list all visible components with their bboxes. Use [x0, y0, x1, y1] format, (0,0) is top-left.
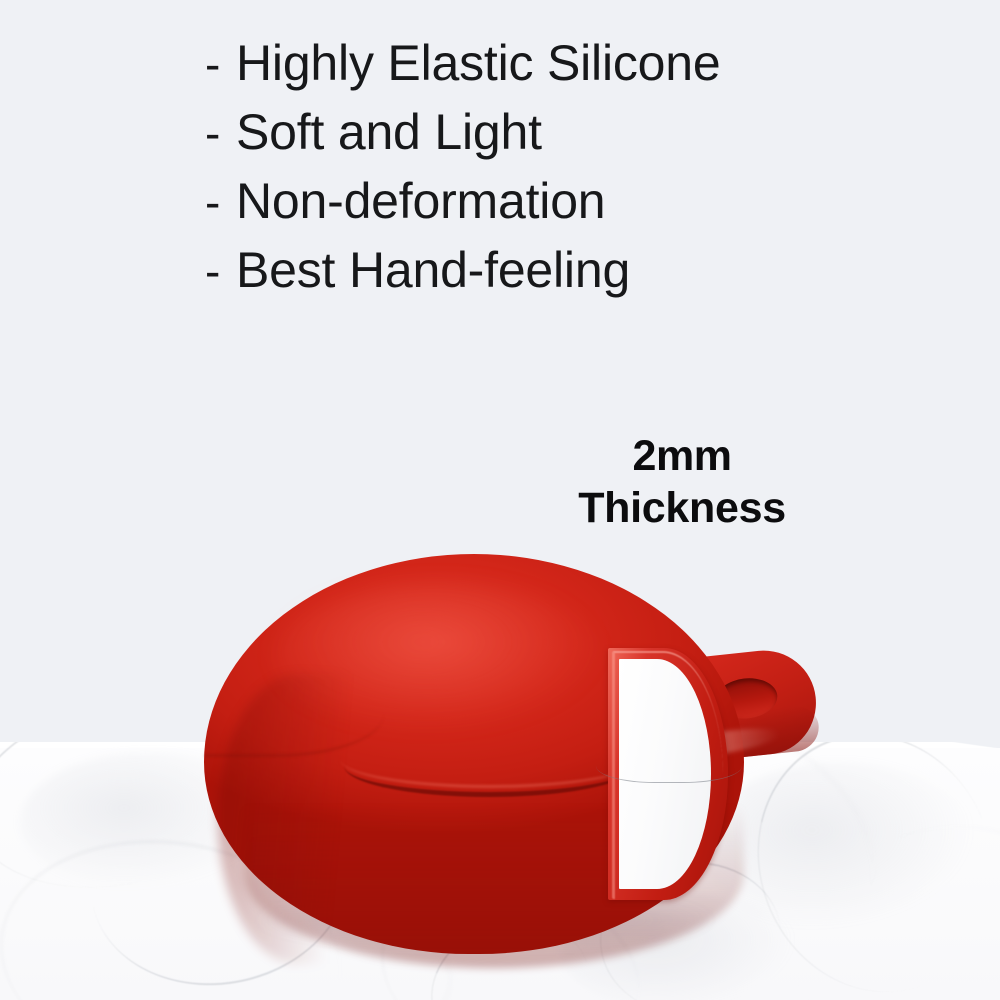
product-image: [190, 540, 830, 965]
feature-label: Best Hand-feeling: [236, 241, 630, 299]
thickness-value: 2mm: [482, 432, 882, 480]
feature-list-item: - Soft and Light: [205, 103, 825, 172]
bullet-dash-icon: -: [205, 175, 236, 229]
feature-list: - Highly Elastic Silicone - Soft and Lig…: [205, 34, 825, 310]
wall-thickness-cutaway: [608, 648, 728, 900]
product-feature-graphic: - Highly Elastic Silicone - Soft and Lig…: [0, 0, 1000, 1000]
thickness-label: Thickness: [482, 480, 882, 536]
thickness-callout: 2mm Thickness: [482, 432, 882, 536]
feature-list-item: - Non-deformation: [205, 172, 825, 241]
feature-list-item: - Best Hand-feeling: [205, 241, 825, 310]
feature-label: Non-deformation: [236, 172, 605, 230]
feature-label: Highly Elastic Silicone: [236, 34, 721, 92]
bullet-dash-icon: -: [205, 244, 236, 298]
feature-list-item: - Highly Elastic Silicone: [205, 34, 825, 103]
bullet-dash-icon: -: [205, 106, 236, 160]
case-lid-seam: [344, 766, 634, 797]
bullet-dash-icon: -: [205, 37, 236, 91]
feature-label: Soft and Light: [236, 103, 542, 161]
